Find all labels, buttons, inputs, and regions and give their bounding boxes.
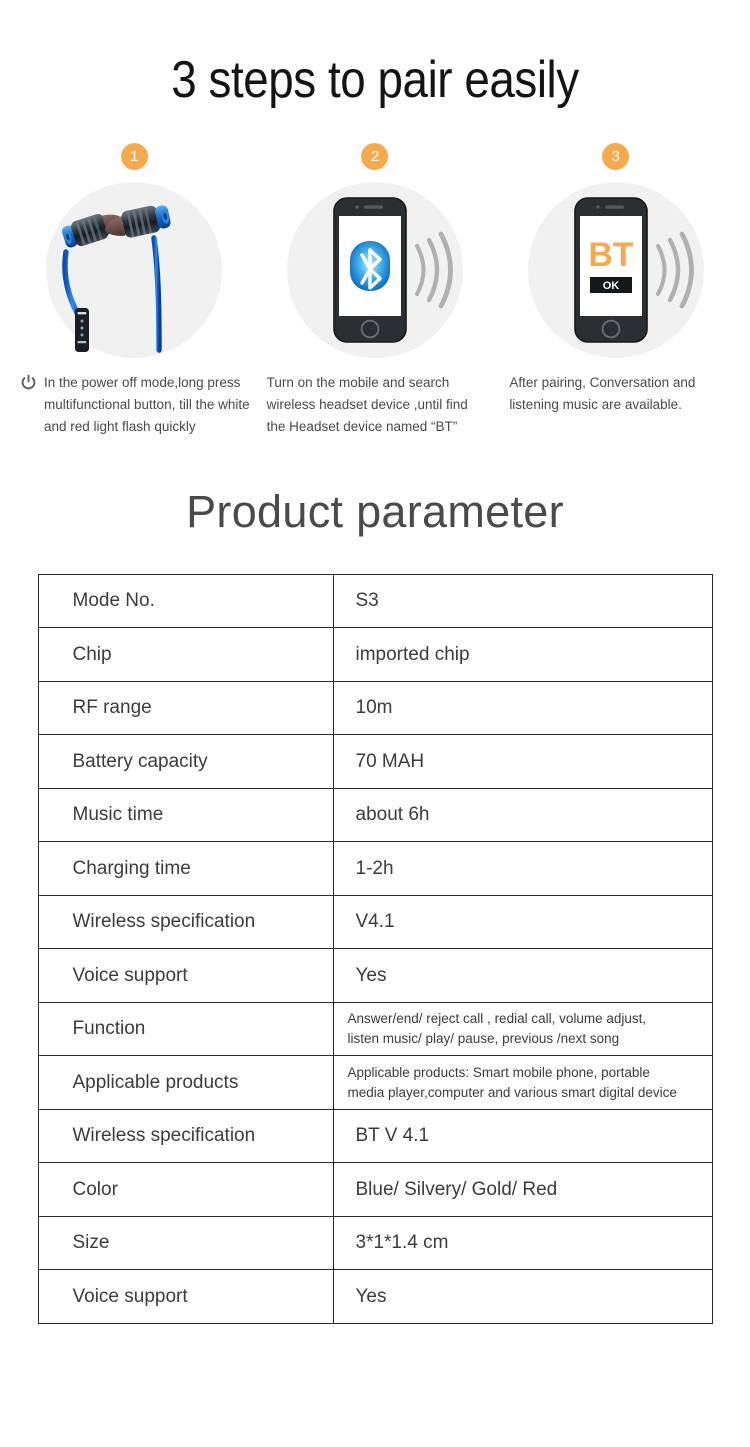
table-row: Voice support Yes bbox=[38, 1270, 712, 1324]
table-row: Voice support Yes bbox=[38, 949, 712, 1003]
param-value: Yes bbox=[333, 949, 712, 1003]
step-caption-text-1: In the power off mode,long press multifu… bbox=[44, 375, 250, 434]
phone-bt-ok-icon: BT OK bbox=[518, 182, 714, 358]
step-item-3: 3 BT OK After pairing, Conve bbox=[495, 143, 736, 438]
param-key: Wireless specification bbox=[38, 895, 333, 949]
param-key: Battery capacity bbox=[38, 735, 333, 789]
table-row: Chip imported chip bbox=[38, 628, 712, 682]
table-row: Function Answer/end/ reject call , redia… bbox=[38, 1002, 712, 1056]
step-item-2: 2 bbox=[255, 143, 496, 438]
param-key: Mode No. bbox=[38, 574, 333, 628]
param-key: Chip bbox=[38, 628, 333, 682]
param-value: imported chip bbox=[333, 628, 712, 682]
param-value-line: listen music/ play/ pause, previous /nex… bbox=[348, 1029, 704, 1049]
step-item-1: 1 bbox=[14, 143, 255, 438]
param-value: 10m bbox=[333, 681, 712, 735]
table-row: Size 3*1*1.4 cm bbox=[38, 1216, 712, 1270]
earphones-icon bbox=[36, 182, 232, 358]
param-value: S3 bbox=[333, 574, 712, 628]
step-caption-3: After pairing, Conversation and listenin… bbox=[495, 372, 736, 416]
step-badge-1: 1 bbox=[121, 143, 148, 170]
step-illustration-3: BT OK bbox=[518, 182, 714, 354]
param-key: Color bbox=[38, 1163, 333, 1217]
table-row: Battery capacity 70 MAH bbox=[38, 735, 712, 789]
step-illustration-1 bbox=[36, 182, 232, 354]
section-title: Product parameter bbox=[0, 438, 750, 538]
table-row: RF range 10m bbox=[38, 681, 712, 735]
param-value: BT V 4.1 bbox=[333, 1109, 712, 1163]
param-value: Blue/ Silvery/ Gold/ Red bbox=[333, 1163, 712, 1217]
param-key: Size bbox=[38, 1216, 333, 1270]
param-value-line: Answer/end/ reject call , redial call, v… bbox=[348, 1009, 704, 1029]
table-row: Wireless specification BT V 4.1 bbox=[38, 1109, 712, 1163]
step-caption-text-2: Turn on the mobile and search wireless h… bbox=[267, 375, 468, 434]
table-row: Applicable products Applicable products:… bbox=[38, 1056, 712, 1110]
step-caption-text-3: After pairing, Conversation and listenin… bbox=[509, 375, 695, 412]
param-value: Applicable products: Smart mobile phone,… bbox=[333, 1056, 712, 1110]
param-key: Voice support bbox=[38, 949, 333, 1003]
param-value: 3*1*1.4 cm bbox=[333, 1216, 712, 1270]
param-key: Wireless specification bbox=[38, 1109, 333, 1163]
param-value-line: Applicable products: Smart mobile phone,… bbox=[348, 1063, 704, 1083]
step-illustration-2 bbox=[277, 182, 473, 354]
param-value-line: media player,computer and various smart … bbox=[348, 1083, 704, 1103]
param-value: Answer/end/ reject call , redial call, v… bbox=[333, 1002, 712, 1056]
param-value: 1-2h bbox=[333, 842, 712, 896]
table-body: Mode No. S3 Chip imported chip RF range … bbox=[38, 574, 712, 1323]
param-value: Yes bbox=[333, 1270, 712, 1324]
product-parameter-table: Mode No. S3 Chip imported chip RF range … bbox=[38, 574, 713, 1324]
step-badge-3: 3 bbox=[602, 143, 629, 170]
param-value: 70 MAH bbox=[333, 735, 712, 789]
table-row: Wireless specification V4.1 bbox=[38, 895, 712, 949]
table-row: Color Blue/ Silvery/ Gold/ Red bbox=[38, 1163, 712, 1217]
step-badge-2: 2 bbox=[361, 143, 388, 170]
step-caption-1: In the power off mode,long press multifu… bbox=[14, 372, 255, 438]
steps-section: 1 bbox=[0, 143, 750, 438]
page-title: 3 steps to pair easily bbox=[45, 0, 705, 109]
table-row: Charging time 1-2h bbox=[38, 842, 712, 896]
param-key: Music time bbox=[38, 788, 333, 842]
param-key: Voice support bbox=[38, 1270, 333, 1324]
power-icon bbox=[20, 374, 37, 391]
param-value: about 6h bbox=[333, 788, 712, 842]
param-value: V4.1 bbox=[333, 895, 712, 949]
phone-screen-ok-button: OK bbox=[602, 280, 619, 292]
phone-bluetooth-icon bbox=[277, 182, 473, 358]
step-caption-2: Turn on the mobile and search wireless h… bbox=[255, 372, 496, 438]
table-row: Music time about 6h bbox=[38, 788, 712, 842]
param-key: RF range bbox=[38, 681, 333, 735]
param-key: Function bbox=[38, 1002, 333, 1056]
param-key: Applicable products bbox=[38, 1056, 333, 1110]
table-row: Mode No. S3 bbox=[38, 574, 712, 628]
phone-screen-title: BT bbox=[588, 236, 634, 274]
param-key: Charging time bbox=[38, 842, 333, 896]
